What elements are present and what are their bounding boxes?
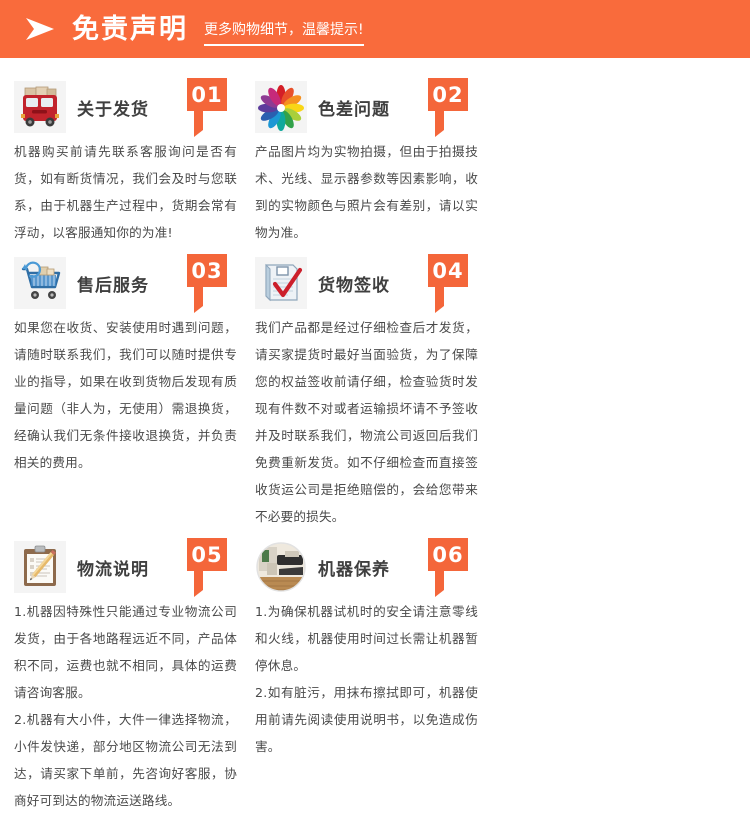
card-04-badge: 04 xyxy=(428,254,468,292)
card-05-body: 1.机器因特殊性只能通过专业物流公司发货，由于各地路程远近不同，产品体积不同，运… xyxy=(14,598,237,814)
card-06: 机器保养 06 1.为确保机器试机时的安全请注意零线和火线，机器使用时间过长需让… xyxy=(255,536,496,814)
badge-tail-shape xyxy=(194,111,203,137)
color-wheel-icon xyxy=(255,81,307,133)
card-05: 物流说明 05 1.机器因特殊性只能通过专业物流公司发货，由于各地路程远近不同，… xyxy=(14,536,255,814)
card-03-badge: 03 xyxy=(187,254,227,292)
card-02: 色差问题 02 产品图片均为实物拍摄，但由于拍摄技术、光线、显示器参数等因素影响… xyxy=(255,76,496,246)
card-03-title: 售后服务 xyxy=(77,271,149,296)
badge-tail-shape xyxy=(194,571,203,597)
badge-tail-shape xyxy=(194,287,203,313)
card-03-number: 03 xyxy=(187,254,227,287)
arrow-right-icon xyxy=(24,16,58,42)
card-02-body: 产品图片均为实物拍摄，但由于拍摄技术、光线、显示器参数等因素影响，收到的实物颜色… xyxy=(255,138,478,246)
card-06-badge: 06 xyxy=(428,538,468,576)
card-04-number: 04 xyxy=(428,254,468,287)
card-05-header: 物流说明 05 xyxy=(14,536,237,598)
card-05-badge: 05 xyxy=(187,538,227,576)
banner-subtitle: 更多购物细节，温馨提示! xyxy=(204,19,364,43)
card-02-number: 02 xyxy=(428,78,468,111)
card-04-header: 货物签收 04 xyxy=(255,252,478,314)
card-02-badge: 02 xyxy=(428,78,468,116)
card-02-header: 色差问题 02 xyxy=(255,76,478,138)
card-01-body: 机器购买前请先联系客服询问是否有货，如有断货情况，我们会及时与您联系，由于机器生… xyxy=(14,138,237,246)
card-01-header: 关于发货 01 xyxy=(14,76,237,138)
card-03-header: 售后服务 03 xyxy=(14,252,237,314)
card-06-header: 机器保养 06 xyxy=(255,536,478,598)
delivery-truck-icon xyxy=(14,81,66,133)
card-03: 售后服务 03 如果您在收货、安装使用时遇到问题，请随时联系我们，我们可以随时提… xyxy=(14,252,255,530)
page-title: 免责声明 xyxy=(72,16,188,43)
card-02-title: 色差问题 xyxy=(318,95,390,120)
badge-tail-shape xyxy=(435,571,444,597)
card-03-body: 如果您在收货、安装使用时遇到问题，请随时联系我们，我们可以随时提供专业的指导，如… xyxy=(14,314,237,476)
card-04: 货物签收 04 我们产品都是经过仔细检查后才发货，请买家提货时最好当面验货，为了… xyxy=(255,252,496,530)
card-04-title: 货物签收 xyxy=(318,271,390,296)
clipboard-pencil-icon xyxy=(14,541,66,593)
card-05-title: 物流说明 xyxy=(77,555,149,580)
machine-photo-icon xyxy=(255,541,307,593)
banner-subtitle-underline: 更多购物细节，温馨提示! xyxy=(204,19,364,46)
shopping-cart-icon xyxy=(14,257,66,309)
card-01-badge: 01 xyxy=(187,78,227,116)
badge-tail-shape xyxy=(435,111,444,137)
card-06-title: 机器保养 xyxy=(318,555,390,580)
card-01: 关于发货 01 机器购买前请先联系客服询问是否有货，如有断货情况，我们会及时与您… xyxy=(14,76,255,246)
card-05-number: 05 xyxy=(187,538,227,571)
card-06-body: 1.为确保机器试机时的安全请注意零线和火线，机器使用时间过长需让机器暂停休息。 … xyxy=(255,598,478,760)
card-01-number: 01 xyxy=(187,78,227,111)
disclaimer-card-grid: 关于发货 01 机器购买前请先联系客服询问是否有货，如有断货情况，我们会及时与您… xyxy=(0,58,750,820)
card-06-number: 06 xyxy=(428,538,468,571)
card-04-body: 我们产品都是经过仔细检查后才发货，请买家提货时最好当面验货，为了保障您的权益签收… xyxy=(255,314,478,530)
clipboard-check-icon xyxy=(255,257,307,309)
card-01-title: 关于发货 xyxy=(77,95,149,120)
disclaimer-banner: 免责声明 更多购物细节，温馨提示! xyxy=(0,0,750,58)
badge-tail-shape xyxy=(435,287,444,313)
